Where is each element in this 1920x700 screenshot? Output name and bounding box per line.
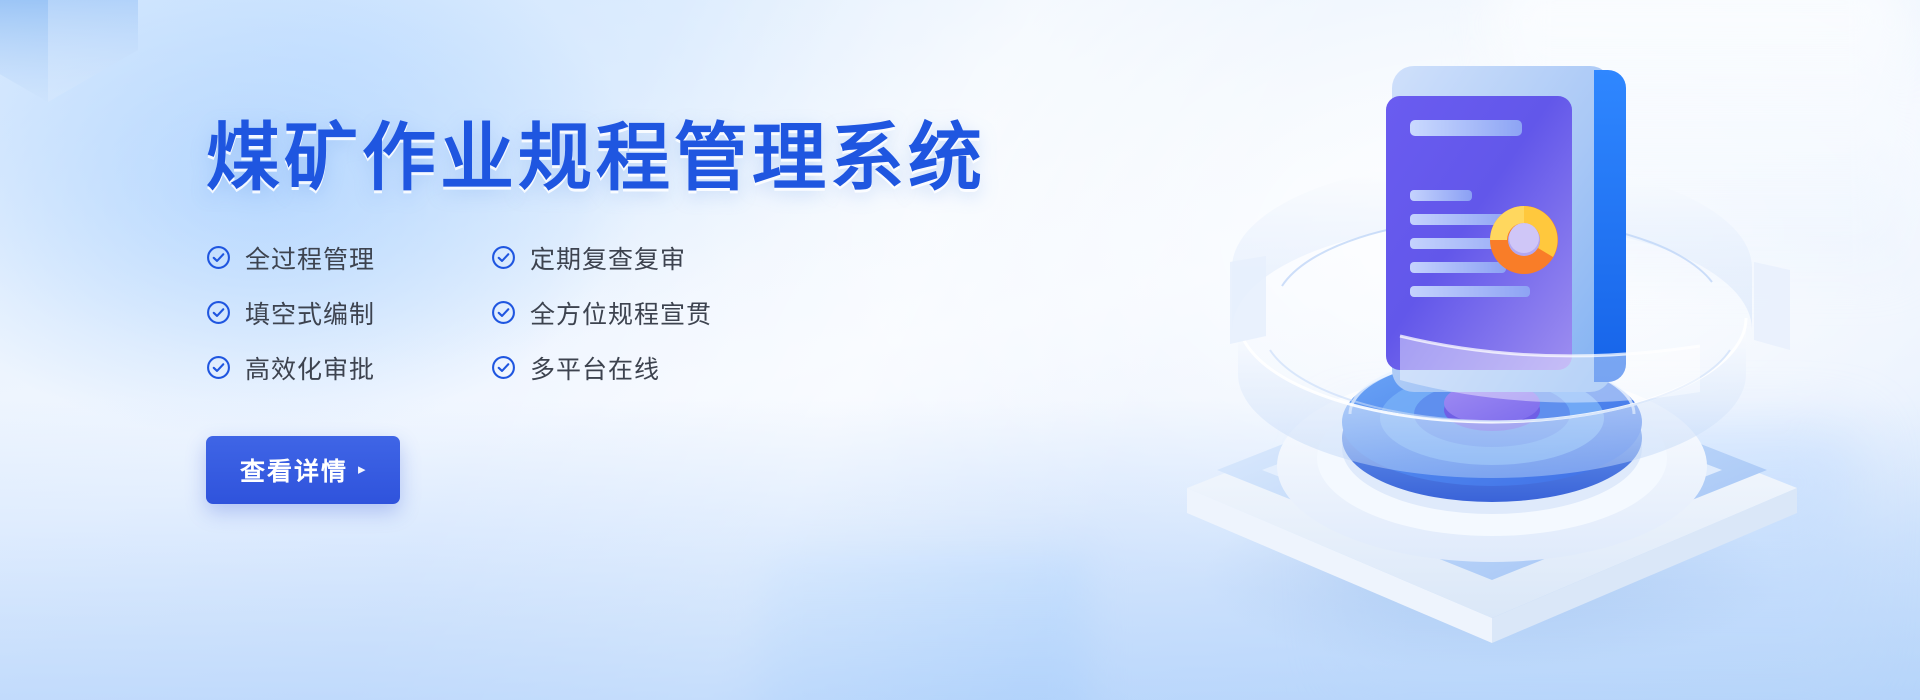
- feature-label: 定期复查复审: [530, 240, 686, 276]
- feature-list: 全过程管理 定期复查复审 填空式编制: [206, 240, 766, 386]
- feature-item: 全过程管理: [206, 240, 491, 276]
- feature-item: 填空式编制: [206, 295, 491, 331]
- page-title: 煤矿作业规程管理系统: [206, 118, 1026, 198]
- feature-label: 填空式编制: [245, 295, 375, 331]
- circle-check-icon: [206, 355, 231, 380]
- circle-check-icon: [491, 300, 516, 325]
- hero-illustration: [1142, 18, 1862, 688]
- feature-item: 定期复查复审: [491, 240, 766, 276]
- feature-label: 多平台在线: [530, 350, 660, 386]
- glass-cube-icon: [0, 0, 172, 164]
- circle-check-icon: [491, 245, 516, 270]
- banner-copy: 煤矿作业规程管理系统 全过程管理 定期复查复审: [206, 118, 1026, 504]
- background-blur-bottom-right: [1340, 430, 1860, 690]
- background-slab-bottom: [760, 550, 1090, 700]
- feature-item: 全方位规程宣贯: [491, 295, 766, 331]
- view-details-button[interactable]: 查看详情 ▸: [206, 436, 400, 504]
- circle-check-icon: [491, 355, 516, 380]
- play-arrow-icon: ▸: [358, 462, 366, 477]
- feature-label: 高效化审批: [245, 350, 375, 386]
- feature-label: 全过程管理: [245, 240, 375, 276]
- background-blur-top-right: [1490, 0, 1910, 270]
- circle-check-icon: [206, 245, 231, 270]
- circle-check-icon: [206, 300, 231, 325]
- feature-item: 高效化审批: [206, 350, 491, 386]
- view-details-label: 查看详情: [240, 452, 348, 488]
- hero-banner: 煤矿作业规程管理系统 全过程管理 定期复查复审: [0, 0, 1920, 700]
- feature-item: 多平台在线: [491, 350, 766, 386]
- feature-label: 全方位规程宣贯: [530, 295, 712, 331]
